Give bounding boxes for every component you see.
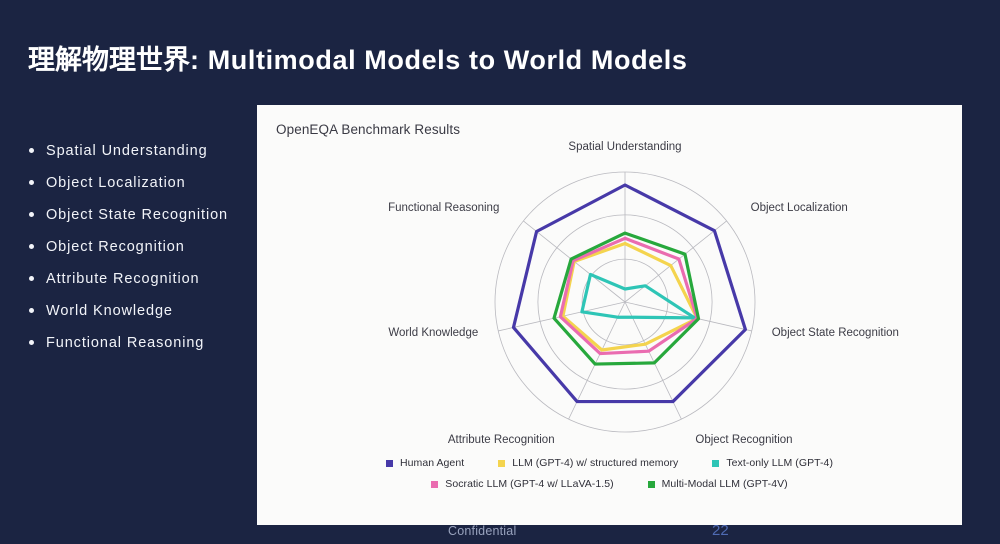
list-item-label: Object Localization [46, 175, 186, 191]
page-title: 理解物理世界: Multimodal Models to World Model… [28, 38, 688, 77]
list-item: World Knowledge [28, 302, 258, 320]
legend-item[interactable]: Human Agent [386, 457, 464, 469]
list-item-label: Functional Reasoning [46, 335, 204, 351]
axis-label-5: World Knowledge [388, 327, 478, 339]
list-item-label: Attribute Recognition [46, 271, 200, 287]
legend-swatch-icon [498, 460, 505, 467]
bullet-dot-icon [29, 244, 34, 249]
axis-label-2: Object State Recognition [772, 327, 899, 339]
list-item: Spatial Understanding [28, 142, 258, 160]
chart-card: OpenEQA Benchmark Results Spatial Unders… [257, 105, 962, 525]
bullet-dot-icon [29, 276, 34, 281]
bullet-dot-icon [29, 308, 34, 313]
list-item: Object Localization [28, 174, 258, 192]
axis-label-6: Functional Reasoning [388, 202, 499, 214]
list-item: Functional Reasoning [28, 334, 258, 352]
list-item: Attribute Recognition [28, 270, 258, 288]
list-item-label: World Knowledge [46, 303, 173, 319]
legend-swatch-icon [386, 460, 393, 467]
legend-item[interactable]: Multi-Modal LLM (GPT-4V) [648, 478, 788, 490]
bullet-dot-icon [29, 212, 34, 217]
legend-swatch-icon [712, 460, 719, 467]
axis-label-4: Attribute Recognition [448, 434, 555, 446]
legend-item[interactable]: Text-only LLM (GPT-4) [712, 457, 833, 469]
radar-chart: Spatial UnderstandingObject Localization… [257, 130, 962, 460]
legend-label: Human Agent [400, 457, 464, 469]
slide-root: 理解物理世界: Multimodal Models to World Model… [0, 0, 1000, 544]
legend-label: Multi-Modal LLM (GPT-4V) [662, 478, 788, 490]
list-item-label: Object State Recognition [46, 207, 228, 223]
bullet-dot-icon [29, 340, 34, 345]
legend-swatch-icon [431, 481, 438, 488]
legend-item[interactable]: Socratic LLM (GPT-4 w/ LLaVA-1.5) [431, 478, 613, 490]
page-title-separator: : [190, 45, 208, 75]
axis-label-0: Spatial Understanding [568, 141, 681, 153]
series-path-0 [513, 185, 745, 402]
page-title-cjk: 理解物理世界 [28, 45, 190, 75]
legend-row: Human AgentLLM (GPT-4) w/ structured mem… [257, 457, 962, 469]
legend-swatch-icon [648, 481, 655, 488]
legend-label: LLM (GPT-4) w/ structured memory [512, 457, 678, 469]
legend-label: Socratic LLM (GPT-4 w/ LLaVA-1.5) [445, 478, 613, 490]
legend-row: Socratic LLM (GPT-4 w/ LLaVA-1.5)Multi-M… [257, 478, 962, 490]
legend-label: Text-only LLM (GPT-4) [726, 457, 833, 469]
bullet-dot-icon [29, 180, 34, 185]
axis-label-3: Object Recognition [695, 434, 792, 446]
list-item-label: Object Recognition [46, 239, 185, 255]
list-item: Object State Recognition [28, 206, 258, 224]
list-item: Object Recognition [28, 238, 258, 256]
legend-item[interactable]: LLM (GPT-4) w/ structured memory [498, 457, 678, 469]
axis-label-1: Object Localization [751, 202, 848, 214]
list-item-label: Spatial Understanding [46, 143, 208, 159]
chart-legend: Human AgentLLM (GPT-4) w/ structured mem… [257, 457, 962, 499]
footer-confidential-label: Confidential [448, 524, 516, 538]
series-path-4 [554, 233, 698, 364]
bullet-dot-icon [29, 148, 34, 153]
capability-bullet-list: Spatial UnderstandingObject Localization… [28, 142, 258, 366]
page-title-en: Multimodal Models to World Models [208, 45, 688, 75]
footer-page-number: 22 [712, 522, 729, 539]
